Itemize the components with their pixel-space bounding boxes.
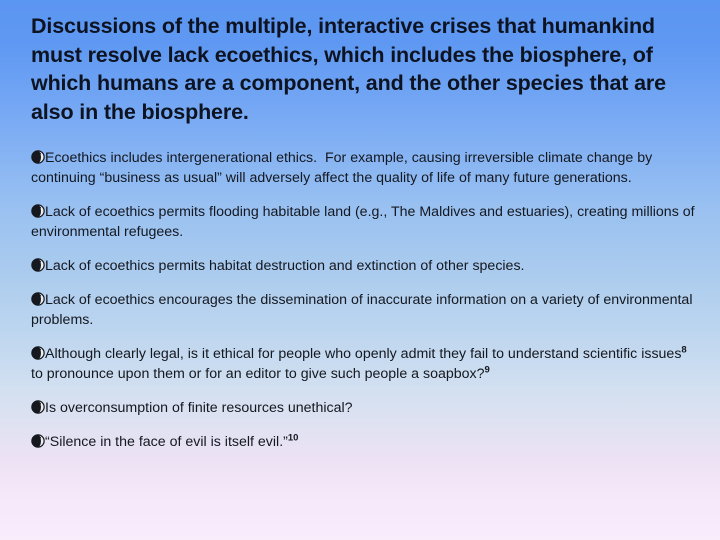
globe-icon	[31, 258, 45, 272]
paragraph-text: Is overconsumption of finite resources u…	[45, 400, 353, 416]
bullet-silence-quote: “Silence in the face of evil is itself e…	[31, 432, 695, 452]
bullet-intergenerational-ethics: Ecoethics includes intergenerational eth…	[31, 148, 695, 188]
globe-icon	[31, 400, 45, 414]
bullet-habitat-destruction: Lack of ecoethics permits habitat destru…	[31, 256, 695, 276]
slide-body: Ecoethics includes intergenerational eth…	[31, 148, 695, 452]
slide-title: Discussions of the multiple, interactive…	[31, 12, 691, 126]
paragraph-text: Lack of ecoethics permits habitat destru…	[45, 258, 525, 274]
presentation-slide: Discussions of the multiple, interactive…	[0, 0, 720, 540]
paragraph-text: “Silence in the face of evil is itself e…	[45, 434, 298, 450]
paragraph-text: Although clearly legal, is it ethical fo…	[31, 346, 691, 382]
footnote-marker: 8	[681, 344, 686, 355]
paragraph-text: Lack of ecoethics permits flooding habit…	[31, 204, 699, 240]
bullet-legal-but-ethical: Although clearly legal, is it ethical fo…	[31, 344, 695, 384]
paragraph-text: Lack of ecoethics encourages the dissemi…	[31, 292, 696, 328]
footnote-marker: 10	[288, 432, 299, 443]
globe-icon	[31, 292, 45, 306]
footnote-marker: 9	[485, 364, 490, 375]
globe-icon	[31, 346, 45, 360]
paragraph-text: Ecoethics includes intergenerational eth…	[31, 150, 656, 186]
bullet-flooding-habitable-land: Lack of ecoethics permits flooding habit…	[31, 202, 695, 242]
globe-icon	[31, 204, 45, 218]
bullet-overconsumption: Is overconsumption of finite resources u…	[31, 398, 695, 418]
globe-icon	[31, 150, 45, 164]
globe-icon	[31, 434, 45, 448]
bullet-inaccurate-information: Lack of ecoethics encourages the dissemi…	[31, 290, 695, 330]
